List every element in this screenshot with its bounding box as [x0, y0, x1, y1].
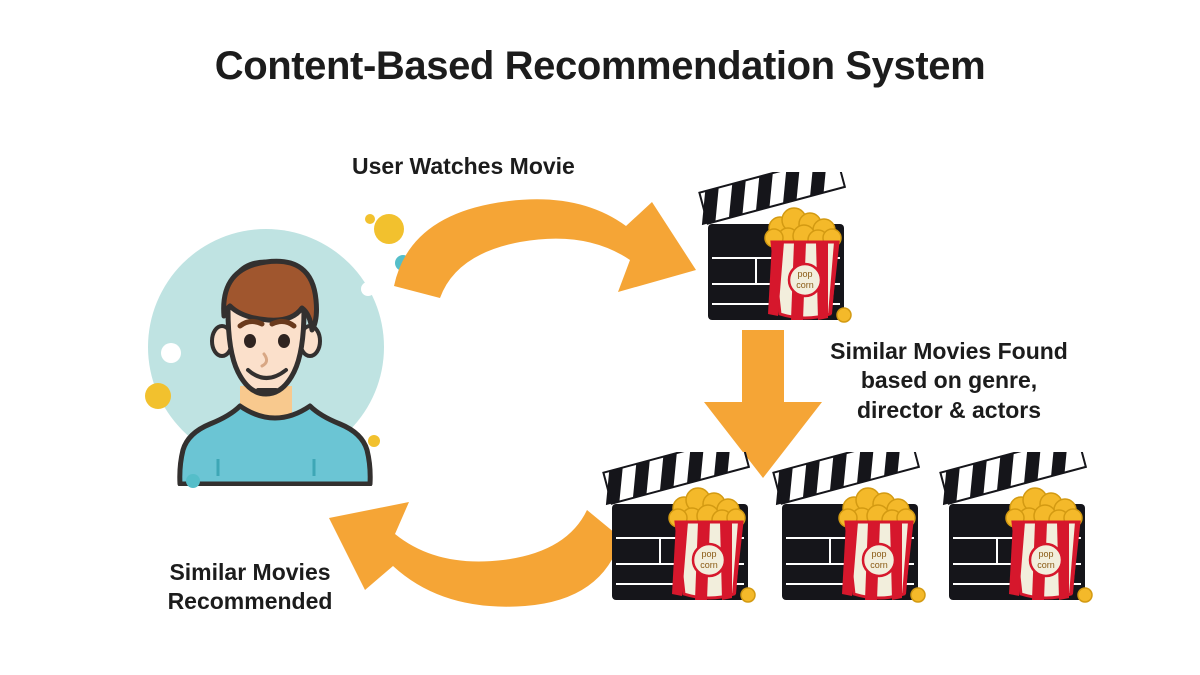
- label-similar-movies-found: Similar Movies Found based on genre, dir…: [818, 337, 1080, 425]
- label-similar-movies-found-line-1: Similar Movies Found: [818, 337, 1080, 366]
- popcorn-logo-text-corn: corn: [796, 280, 814, 290]
- dot-white-left: [161, 343, 181, 363]
- popcorn-logo-text-pop: pop: [1038, 549, 1053, 559]
- label-user-watches-movie: User Watches Movie: [352, 152, 575, 181]
- dot-yellow-left: [145, 383, 171, 409]
- dot-yellow-right: [368, 435, 380, 447]
- popcorn-logo-text-pop: pop: [701, 549, 716, 559]
- label-similar-movies-recommended-line-1: Similar Movies: [150, 558, 350, 587]
- dot-white-upper-right: [361, 282, 375, 296]
- label-similar-movies-found-line-2: based on genre,: [818, 366, 1080, 395]
- popcorn-logo-text-pop: pop: [871, 549, 886, 559]
- popcorn-logo-text-corn: corn: [870, 560, 888, 570]
- diagram-canvas: Content-Based Recommendation System: [0, 0, 1200, 675]
- page-title: Content-Based Recommendation System: [0, 44, 1200, 89]
- popcorn-logo-text-pop: pop: [797, 269, 812, 279]
- dot-yellow-small-top: [365, 214, 375, 224]
- arrow-similar-to-user: [325, 462, 625, 607]
- popcorn-logo-text-corn: corn: [700, 560, 718, 570]
- label-similar-movies-recommended: Similar Movies Recommended: [150, 558, 350, 617]
- label-similar-movies-recommended-line-2: Recommended: [150, 587, 350, 616]
- movie-clapperboard-popcorn: pop corn: [935, 452, 1115, 612]
- label-similar-movies-found-line-3: director & actors: [818, 396, 1080, 425]
- movie-clapperboard-popcorn: pop corn: [598, 452, 778, 612]
- dot-teal-bottom: [186, 474, 200, 488]
- arrow-user-to-movie: [390, 188, 700, 318]
- popcorn-logo-text-corn: corn: [1037, 560, 1055, 570]
- movie-clapperboard-popcorn: pop corn: [768, 452, 948, 612]
- movie-clapperboard-popcorn: pop corn: [694, 172, 874, 332]
